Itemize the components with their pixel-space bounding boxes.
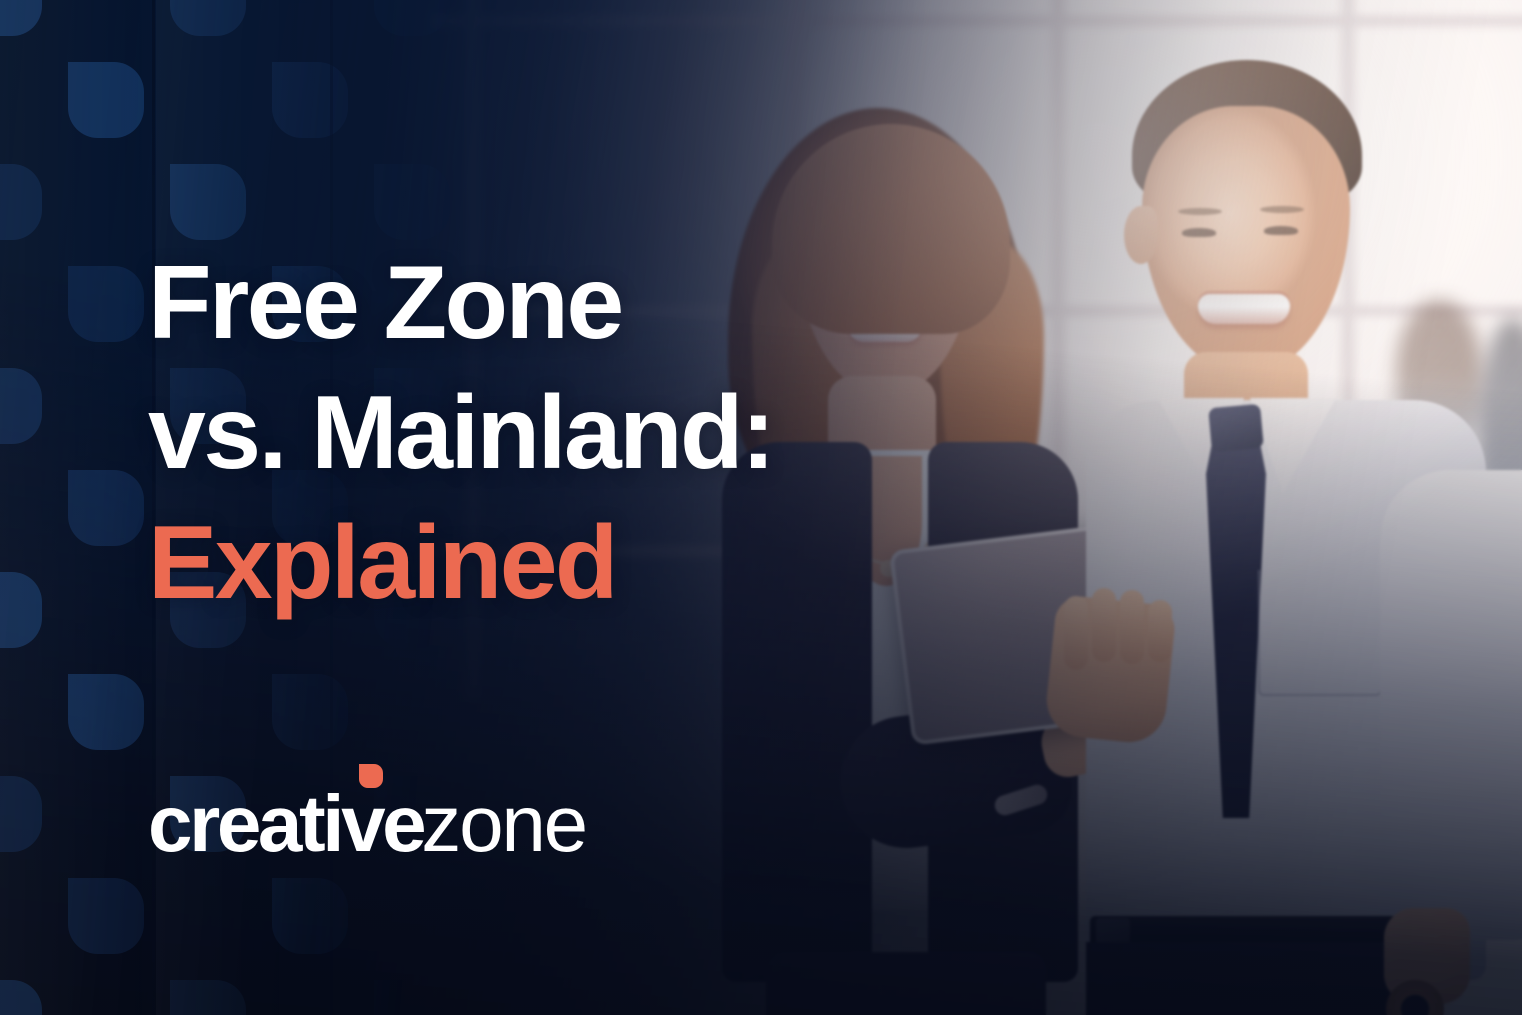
man-tie-knot [1208, 404, 1264, 452]
headline-line-3-accent: Explained [148, 498, 773, 628]
man-finger [1064, 596, 1088, 670]
man-face [1142, 106, 1350, 374]
man-sleeve [1380, 470, 1522, 940]
page-title: Free Zone vs. Mainland: Explained [148, 238, 773, 628]
man-shirt-pocket [1258, 570, 1382, 696]
creativezone-logo[interactable]: creative zone [148, 778, 586, 870]
man-eye-left [1182, 228, 1216, 237]
logo-light-text: zone [421, 778, 586, 870]
man-smile [1198, 294, 1290, 324]
man-ear [1124, 206, 1158, 264]
man-finger [1148, 600, 1172, 662]
headline-line-1: Free Zone [148, 238, 773, 368]
man-eyebrow-right [1260, 206, 1304, 213]
logo-bold-text: creative [148, 779, 423, 868]
logo-leaf-dot-icon [359, 764, 383, 788]
man-eyebrow-left [1178, 208, 1222, 215]
marketing-banner: Free Zone vs. Mainland: Explained creati… [0, 0, 1522, 1015]
man-finger [1120, 590, 1144, 664]
person-man [1080, 50, 1522, 1015]
man-eye-right [1264, 226, 1298, 235]
logo-wordmark-wrap: creative [148, 778, 423, 870]
man-finger [1092, 588, 1116, 662]
banner-content: Free Zone vs. Mainland: Explained creati… [148, 0, 908, 1015]
headline-line-2: vs. Mainland: [148, 368, 773, 498]
